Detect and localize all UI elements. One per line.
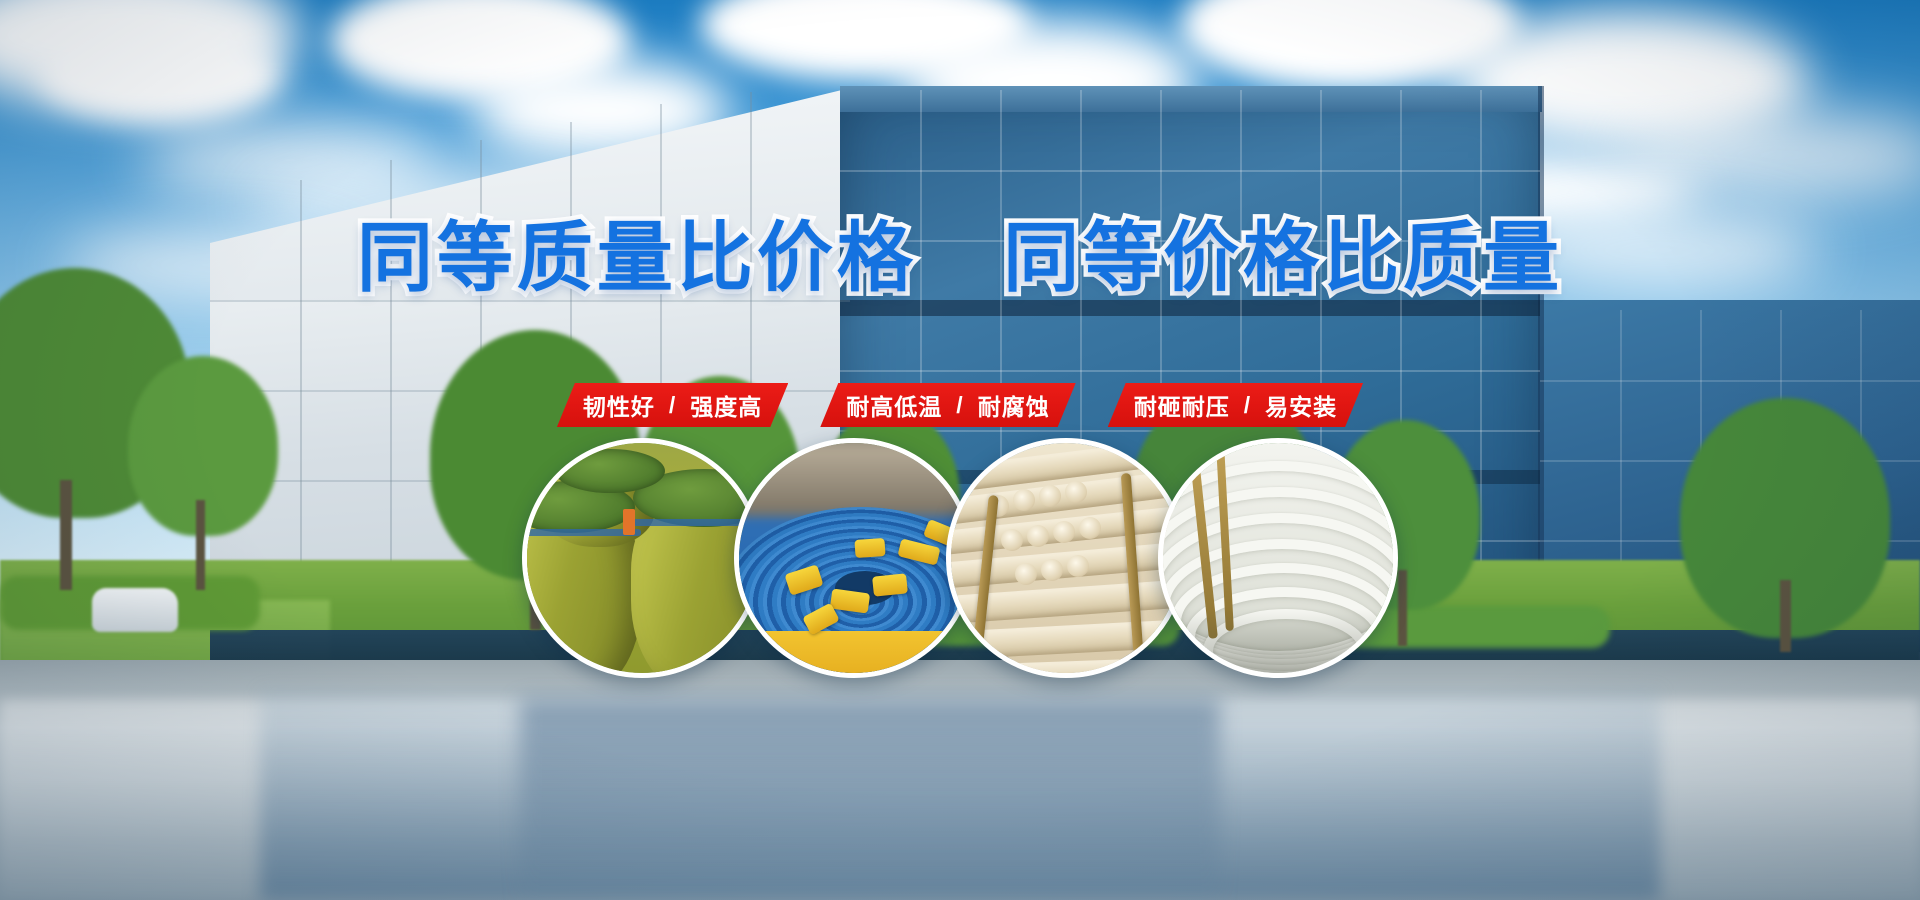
pipe-opening	[1015, 563, 1037, 585]
cloud-shape	[40, 30, 280, 122]
pipe-opening	[1041, 559, 1063, 581]
feature-tag-1-separator: /	[669, 392, 676, 419]
workshop-background-blur	[739, 443, 974, 515]
feature-tag-2-separator: /	[956, 392, 963, 419]
product-circle-3-wrap	[946, 438, 1186, 678]
product-circle-2-wrap	[734, 438, 974, 678]
hose-clip	[854, 538, 885, 558]
page-title: 同等质量比价格 同等价格比质量	[0, 196, 1920, 306]
coil-shadow	[1163, 609, 1398, 673]
product-photo-layflat-hose-coil	[739, 443, 969, 673]
feature-tag-1-left: 韧性好	[583, 388, 655, 422]
building-roof-cap	[840, 86, 1542, 112]
product-image-row	[0, 438, 1920, 678]
headline-part-2: 同等价格比质量	[1003, 216, 1563, 301]
product-circle-olive-hose-rolls[interactable]	[522, 438, 762, 678]
hose-clip	[872, 573, 908, 596]
pipe-opening	[1013, 489, 1035, 511]
pipe	[946, 656, 1186, 678]
product-circle-pvc-pipe-bundle[interactable]	[946, 438, 1186, 678]
feature-tag-3-separator: /	[1244, 392, 1251, 419]
product-photo-pvc-pipe-bundle	[951, 443, 1181, 673]
label-tag	[623, 509, 635, 535]
building-reflection	[520, 700, 1220, 900]
pipe-opening	[1039, 485, 1061, 507]
glass-mullion	[840, 170, 1540, 172]
feature-tag-list: 韧性好 / 强度高 耐高低温 / 耐腐蚀 耐砸耐压 / 易安装	[0, 383, 1920, 427]
feature-tag-1-right: 强度高	[690, 388, 762, 422]
hose-coil-yellow-edge	[734, 631, 974, 678]
product-circle-layflat-hose-coil[interactable]	[734, 438, 974, 678]
promo-banner: 同等质量比价格 同等价格比质量 韧性好 / 强度高 耐高低温 / 耐腐蚀 耐砸耐…	[0, 0, 1920, 900]
product-photo-olive-hose-rolls	[527, 443, 757, 673]
feature-tag-3[interactable]: 耐砸耐压 / 易安装	[1108, 383, 1363, 427]
glass-mullion	[840, 370, 1540, 372]
feature-tag-1[interactable]: 韧性好 / 强度高	[557, 383, 788, 427]
product-circle-1-wrap	[522, 438, 762, 678]
feature-tag-2[interactable]: 耐高低温 / 耐腐蚀	[820, 383, 1075, 427]
feature-tag-3-right: 易安装	[1265, 388, 1337, 422]
pipe-opening	[1067, 555, 1089, 577]
product-circle-4-wrap	[1158, 438, 1398, 678]
feature-tag-2-right: 耐腐蚀	[978, 388, 1050, 422]
pipe-opening	[1065, 481, 1087, 503]
pipe-opening	[1001, 529, 1023, 551]
pipe-opening	[1027, 525, 1049, 547]
feature-tag-3-left: 耐砸耐压	[1134, 388, 1230, 422]
headline-part-1: 同等质量比价格	[357, 216, 917, 301]
pipe-opening	[1079, 517, 1101, 539]
product-photo-pe-coiled-pipe	[1163, 443, 1393, 673]
hose-roll-top	[555, 449, 665, 493]
glass-mullion	[1540, 380, 1920, 382]
pipe-opening	[1053, 521, 1075, 543]
product-circle-pe-coiled-pipe[interactable]	[1158, 438, 1398, 678]
feature-tag-2-left: 耐高低温	[846, 388, 942, 422]
